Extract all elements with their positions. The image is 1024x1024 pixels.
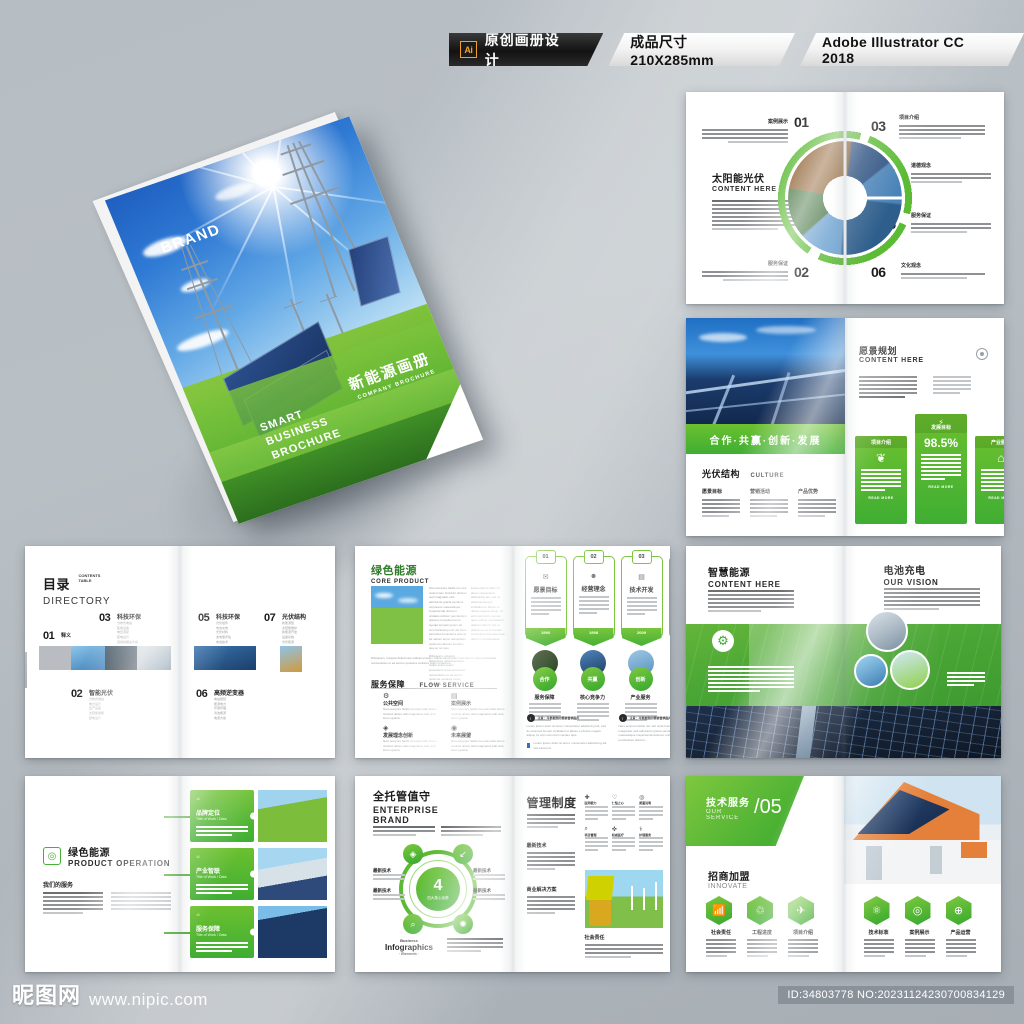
directory-number-06: 06	[196, 688, 207, 700]
directory-heading-03: 科技环保	[117, 612, 141, 621]
wheel-number: 4	[434, 878, 443, 894]
service-hex-label: 社会责任	[706, 929, 736, 936]
vision-card-value: 98.5%	[915, 433, 967, 454]
culture-heading: 光伏结构 CULTURE	[702, 464, 784, 482]
core-paragraph: Ribsquam, voluptat delecicuso oditsement…	[371, 656, 505, 665]
flow-item-label: 案例展示	[451, 700, 505, 707]
rocket-icon: ✈	[788, 896, 814, 925]
solar-field-photo	[686, 318, 845, 424]
donut-chart	[770, 123, 920, 273]
service-hex-label: 工程进度	[747, 929, 777, 936]
service-tag-banner: 技术服务 OUR SERVICE /05	[686, 776, 804, 846]
spread-core-product: 绿色能源 CORE PRODUCT Nam tempore facilis re…	[355, 546, 670, 758]
vision-heading: 愿景规划 CONTENT HERE	[859, 344, 924, 364]
spread-product-operation: ◎ 绿色能源 PRODUCT OPERATION 我们的服务 ❝ 品牌定位 Ti…	[25, 776, 335, 972]
operation-card-title: 品牌定位	[196, 808, 248, 817]
document-icon: ▤	[622, 573, 662, 581]
management-lines-1	[527, 814, 575, 830]
core-circle-caption: 核心竞争力	[575, 694, 611, 701]
wheel-caption: 四大核心优势	[427, 896, 449, 901]
timeline-card-01: 01 ✉ 愿景目标 1990	[525, 556, 567, 638]
timeline-label: 战略发展	[670, 585, 671, 594]
bulb-icon: ◈	[403, 844, 423, 864]
search-icon: ⌕	[403, 914, 423, 934]
gear-icon: ⚙	[712, 630, 734, 652]
flow-item: ◉ 未来展望 Nam tempore facilis rem aut unde …	[451, 724, 505, 753]
info-icon: !	[527, 714, 535, 722]
culture-col: 营销活动	[750, 488, 788, 519]
banner-segment-software: Adobe Illustrator CC 2018	[800, 33, 1024, 66]
culture-en: CULTURE	[750, 473, 784, 479]
page-left: 智慧能源 CONTENT HERE ⚙	[686, 546, 844, 758]
recycle-icon: ♲	[747, 896, 773, 925]
directory-title-cn: 目录	[43, 577, 70, 592]
operation-card-photo	[258, 790, 327, 842]
smart-text-left	[708, 590, 794, 614]
gear-icon: ✺	[453, 914, 473, 934]
operation-title-cn: 绿色能源	[68, 844, 170, 859]
timeline-card-02: 02 ☻ 经营理念 1998	[573, 556, 615, 638]
timeline-year: 1990	[541, 630, 550, 646]
grid-item: ⚕护理服务	[639, 826, 662, 854]
mail-icon: ✉	[526, 573, 566, 581]
culture-col-label: 愿景目标	[702, 488, 740, 495]
page-right: 01 ✉ 愿景目标 1990 02 ☻ 经营理念 1998 03 ▤ 技术开发 …	[513, 546, 671, 758]
spread-enterprise-brand: 全托管值守 ENTERPRISE BRAND 4 四大核心优势 ◈ ↙ ⌕ ✺ …	[355, 776, 670, 972]
directory-number-01: 01	[43, 630, 54, 642]
donut-label-05: 服务保证	[911, 212, 991, 219]
wheel-label-4: 最新技术	[473, 888, 505, 902]
directory-heading-07: 光伏结构	[282, 612, 306, 621]
core-text-col-2: Lorem ipsum dolor sit amet, consectetur …	[471, 586, 505, 642]
directory-entry-07: 光伏结构 新能源型 太阳能维护 新能源开发 设备系统 光伏能源	[282, 612, 306, 644]
slogan-text: 合作·共赢·创新·发展	[710, 432, 822, 447]
directory-side-tab	[25, 652, 27, 688]
management-sub-1: 最新技术	[527, 842, 547, 849]
vision-card-2: 发展目标 ⚡ 98.5% READ MORE	[915, 414, 967, 524]
timeline-label: 技术开发	[622, 585, 662, 594]
spread-smart-energy: 智慧能源 CONTENT HERE ⚙ 电池充电 OUR VISION	[686, 546, 1001, 758]
timeline-year: 2009	[637, 630, 646, 646]
timeline-card-03: 03 ▤ 技术开发 2009	[621, 556, 663, 638]
cover-mockup: BRAND SMART BUSINESS BROCHURE 新能源画册 COMP…	[110, 120, 530, 540]
operation-card-sub: Title of Work / Data	[196, 933, 248, 937]
operation-heading: ◎ 绿色能源 PRODUCT OPERATION	[43, 844, 170, 868]
vision-en: CONTENT HERE	[859, 357, 924, 364]
page-right: ⚛ 技术标准 ◎ 案例展示 ⊕ 产品运营	[844, 776, 1002, 972]
info-icon: !	[619, 714, 627, 722]
operation-card-title: 产业智联	[196, 866, 248, 875]
vision-text-right	[884, 588, 980, 612]
management-sub-2: 商业解决方案	[527, 886, 557, 893]
page-left: 绿色能源 CORE PRODUCT Nam tempore facilis re…	[355, 546, 513, 758]
core-circle-word: 创新	[629, 667, 653, 691]
directory-number-07: 07	[264, 612, 275, 624]
core-circle-3: 创新 产业服务	[623, 650, 659, 723]
core-footnote-2: ! 注意：可根据您的需要替换图片 Nam tempore facilis rem…	[619, 714, 671, 743]
enterprise-heading: 全托管值守 ENTERPRISE BRAND	[373, 788, 439, 825]
page-left: 合作·共赢·创新·发展 光伏结构 CULTURE 愿景目标 营销活动 产品优势	[686, 318, 845, 536]
directory-entry-06: 高频逆变器 电站规划 能源电力 环保管理 清洁能源 电源方案	[214, 688, 244, 720]
management-sub-3: 社会责任	[585, 934, 605, 941]
service-hex-item[interactable]: ⊕ 产品运营	[946, 896, 976, 959]
smart-cn: 智慧能源	[708, 564, 781, 579]
service-hex-label: 案例展示	[905, 929, 935, 936]
directory-heading-05: 科技环保	[216, 612, 240, 621]
worker-helmet-photo	[585, 870, 663, 928]
core-heading: 绿色能源 CORE PRODUCT	[371, 562, 429, 585]
service-tag-cn: 技术服务	[706, 794, 750, 809]
target-icon	[976, 348, 988, 360]
timeline-label: 经营理念	[574, 584, 614, 593]
chart-icon: ◉	[451, 724, 505, 732]
core-circle-1: 合作 服务保障	[527, 650, 563, 723]
donut-item-04: 道德观念	[911, 162, 991, 185]
core-title-en: CORE PRODUCT	[371, 579, 429, 585]
directory-sub: 电池技术	[216, 640, 240, 645]
page-left: 全托管值守 ENTERPRISE BRAND 4 四大核心优势 ◈ ↙ ⌕ ✺ …	[355, 776, 513, 972]
vision-cn: 愿景规划	[859, 344, 924, 357]
spread-donut-contents: 案例展示 01 太阳能光伏 CONTENT HERE 服务保证 02 03 项目…	[686, 92, 1004, 304]
management-icon-grid: ✚医师能力 ♡仁恒之心 ◎质量说明 ⌕项目管理 ✜权威医疗 ⚕护理服务	[585, 794, 663, 853]
core-circle-caption: 产业服务	[623, 694, 659, 701]
operation-card-1: ❝ 品牌定位 Title of Work / Data	[190, 790, 327, 842]
smart-heading: 智慧能源 CONTENT HERE	[708, 564, 781, 589]
service-hex-label: 项目介绍	[788, 929, 818, 936]
search-icon: ⌕	[585, 826, 608, 833]
timeline-card-04: 04 ✺ 战略发展 2019	[669, 556, 671, 638]
culture-col: 产品优势	[798, 488, 836, 519]
operation-card-3: ❝ 服务保障 Title of Work / Data	[190, 906, 327, 958]
person-icon: ☻	[574, 573, 614, 580]
directory-number-05: 05	[198, 612, 209, 624]
vision-text-col-1	[859, 376, 917, 400]
banner-label-software: Adobe Illustrator CC 2018	[822, 34, 998, 66]
enterprise-en2: BRAND	[373, 815, 439, 825]
timeline-year: 1998	[589, 630, 598, 646]
wheel-label-3: 最新技术	[473, 868, 505, 882]
grid-item: ✜权威医疗	[612, 826, 635, 854]
innovate-heading: 招商加盟 INNOVATE	[708, 868, 750, 890]
directory-sub: 光伏能源	[282, 640, 306, 645]
directory-sub: 配电设计	[89, 716, 113, 721]
directory-entry-03: 科技环保 分布式电站 集成设备 电压调配 配电设计 自动化解决方案	[117, 612, 141, 644]
plug-icon: ⚡	[915, 418, 967, 427]
grid-item: ♡仁恒之心	[612, 794, 635, 822]
page-right: 愿景规划 CONTENT HERE 项目介绍 ❦ READ MORE 发展目标 …	[845, 318, 1004, 536]
operation-card-photo	[258, 848, 327, 900]
electric-car-photo-icon	[890, 650, 930, 690]
donut-label-04: 道德观念	[911, 162, 991, 169]
culture-columns: 愿景目标 营销活动 产品优势	[702, 488, 836, 519]
management-lines-4	[585, 944, 663, 960]
stethoscope-icon: ✜	[612, 826, 635, 833]
service-hex-item[interactable]: ⚛ 技术标准	[864, 896, 894, 959]
management-lines-3	[527, 896, 575, 916]
settings-icon: ✺	[670, 573, 671, 581]
banner-label-original-design: 原创画册设计	[485, 30, 574, 70]
service-hex-item[interactable]: 📶 社会责任	[706, 896, 736, 959]
wheel-label-1: 最新技术	[373, 868, 405, 882]
vision-card-1: 项目介绍 ❦ READ MORE	[855, 436, 907, 524]
page-right: ❝ 品牌定位 Title of Work / Data ❝ 产业智联 Title…	[180, 776, 335, 972]
core-circle-2: 共赢 核心竞争力	[575, 650, 611, 723]
flow-heading: 服务保障 FLOW SERVICE	[371, 674, 475, 692]
culture-col: 愿景目标	[702, 488, 740, 519]
wind-turbine-photo-icon	[854, 654, 888, 688]
quote-icon: ❝	[196, 854, 248, 863]
gear-icon: ⚙	[383, 692, 437, 700]
layers-icon: ▤	[451, 692, 505, 700]
core-photo	[371, 586, 423, 644]
four-advantages-wheel: 4 四大核心优势 ◈ ↙ ⌕ ✺	[399, 850, 477, 928]
location-pin-icon: ◎	[43, 847, 61, 865]
operation-title-en: PRODUCT OPERATION	[68, 859, 170, 868]
page-left: 技术服务 OUR SERVICE /05 招商加盟 INNOVATE 📶 社会责…	[686, 776, 844, 972]
directory-title-en: DIRECTORY	[43, 596, 111, 607]
watermark: 昵图网 www.nipic.com	[12, 978, 208, 1010]
core-circle-word: 合作	[533, 667, 557, 691]
flow-item: ⚙ 公共空间 Nam tempore facilis rem aut unde …	[383, 692, 437, 721]
quote-icon: ❝	[196, 912, 248, 921]
page-right: 管理制度 最新技术 商业解决方案 ✚医师能力 ♡仁恒之心 ◎质量说明 ⌕项目管理…	[513, 776, 671, 972]
management-title: 管理制度	[527, 794, 577, 811]
page-right: 05 科技环保 光伏组件 电池充电 光伏材料 发电量评估 电池技术 07 光伏结…	[180, 546, 335, 758]
directory-heading-01: 释义	[61, 632, 71, 639]
spread-vision-plan: 合作·共赢·创新·发展 光伏结构 CULTURE 愿景目标 营销活动 产品优势 …	[686, 318, 1004, 536]
directory-heading-06: 高频逆变器	[214, 688, 244, 697]
core-circle-caption: 服务保障	[527, 694, 563, 701]
directory-sub: 自动化解决方案	[117, 640, 141, 645]
flow-item: ◈ 发展理念创新 Nam tempore facilis rem aut und…	[383, 724, 437, 753]
directory-photo	[280, 646, 302, 672]
service-hexes-left: 📶 社会责任 ♲ 工程进度 ✈ 项目介绍	[706, 896, 818, 959]
quote-icon: ❝	[196, 796, 248, 805]
doctor-icon: ✚	[585, 794, 608, 801]
heart-icon: ♡	[612, 794, 635, 801]
core-circle-word: 共赢	[581, 667, 605, 691]
grid-item: ⌕项目管理	[585, 826, 608, 854]
slogan-banner: 合作·共赢·创新·发展	[686, 424, 845, 454]
watermark-site-url: www.nipic.com	[89, 990, 208, 1010]
bulb-icon: ◈	[383, 724, 437, 732]
operation-card-title: 服务保障	[196, 924, 248, 933]
grid-item: ◎质量说明	[639, 794, 662, 822]
flow-item-label: 公共空间	[383, 700, 437, 707]
atom-icon: ⚛	[864, 896, 890, 925]
service-hex-label: 产品运营	[946, 929, 976, 936]
enterprise-en1: ENTERPRISE	[373, 805, 439, 815]
banner-segment-size: 成品尺寸210X285mm	[608, 33, 795, 66]
directory-number-02: 02	[71, 688, 82, 700]
flow-item-label: 未来展望	[451, 732, 505, 739]
directory-entry-05: 科技环保 光伏组件 电池充电 光伏材料 发电量评估 电池技术	[216, 612, 240, 644]
enterprise-text-2	[441, 826, 501, 838]
directory-entry-02: 智能光伏 分布式电站 电力设计 生产设备 太阳能储能 配电设计	[89, 688, 113, 720]
vision-card-readmore[interactable]: READ MORE	[975, 493, 1004, 505]
innovate-cn: 招商加盟	[708, 868, 750, 883]
service-tag-number: /05	[754, 796, 782, 819]
directory-title: 目录 CONTENTS TABLE DIRECTORY	[43, 574, 111, 607]
donut-item-05: 服务保证	[911, 212, 991, 235]
vision-text-white	[947, 672, 985, 688]
flow-item: ▤ 案例展示 Nam tempore facilis rem aut unde …	[451, 692, 505, 721]
timeline-number: 01	[536, 550, 556, 564]
culture-cn: 光伏结构	[702, 469, 740, 479]
timeline-number: 02	[584, 550, 604, 564]
directory-photo	[137, 646, 171, 670]
culture-col-label: 产品优势	[798, 488, 836, 495]
vision-heading: 电池充电 OUR VISION	[884, 562, 939, 587]
core-text-col-1: Nam tempore facilis rem aut unde lorem t…	[429, 586, 467, 686]
spread-directory: 目录 CONTENTS TABLE DIRECTORY 01 释义 03 科技环…	[25, 546, 335, 758]
enterprise-cn: 全托管值守	[373, 788, 439, 804]
download-icon: ↙	[453, 844, 473, 864]
vision-card-3: 产业服务 ⌂ READ MORE	[975, 436, 1004, 524]
flow-item-label: 发展理念创新	[383, 732, 437, 739]
grid-item: ✚医师能力	[585, 794, 608, 822]
vision-card-head: 产业服务	[975, 436, 1004, 448]
directory-sub: 电源方案	[214, 716, 244, 721]
wheel-label-2: 最新技术	[373, 888, 405, 902]
page-left: ◎ 绿色能源 PRODUCT OPERATION 我们的服务	[25, 776, 180, 972]
enterprise-text-1	[373, 826, 435, 838]
top-banner: Ai 原创画册设计 成品尺寸210X285mm Adobe Illustrato…	[449, 33, 1024, 66]
directory-title-small2: TABLE	[78, 578, 91, 583]
vision-card-head: 项目介绍	[855, 436, 907, 448]
leaf-icon: ❦	[855, 448, 907, 469]
operation-sub-cn: 我们的服务	[43, 880, 73, 889]
directory-photo	[71, 646, 105, 670]
core-footnote-1: ! 注意：可根据您的需要替换图片 Lorem ipsum dolor sit a…	[527, 714, 607, 750]
directory-photo	[194, 646, 256, 670]
directory-heading-02: 智能光伏	[89, 688, 113, 697]
globe-icon: ⊕	[946, 896, 972, 925]
directory-photo	[105, 646, 137, 670]
page-left: 目录 CONTENTS TABLE DIRECTORY 01 释义 03 科技环…	[25, 546, 180, 758]
donut-divider-horizontal	[845, 197, 903, 200]
service-tag-en2: SERVICE	[706, 815, 750, 821]
operation-text-col-1	[43, 892, 103, 916]
location-pin-icon: ◎	[905, 896, 931, 925]
service-hex-item[interactable]: ◎ 案例展示	[905, 896, 935, 959]
page-right: 电池充电 OUR VISION	[844, 546, 1002, 758]
nurse-icon: ⚕	[639, 826, 662, 833]
operation-card-2: ❝ 产业智联 Title of Work / Data	[190, 848, 327, 900]
smart-en: CONTENT HERE	[708, 580, 781, 589]
operation-text-col-2	[111, 892, 171, 912]
banner-segment-original-design: Ai 原创画册设计	[449, 33, 603, 66]
donut-label-03: 项目介绍	[899, 114, 985, 121]
management-lines-2	[527, 852, 575, 872]
operation-card-photo	[258, 906, 327, 958]
banner-label-size: 成品尺寸210X285mm	[630, 32, 769, 68]
infographics-logo: Business Infographics · Elements ·	[379, 938, 439, 956]
infographics-lines	[447, 938, 503, 954]
timeline-number: 03	[632, 550, 652, 564]
house-solar-photo	[844, 776, 1002, 884]
vision-card-readmore[interactable]: READ MORE	[855, 493, 907, 505]
service-hexes-right: ⚛ 技术标准 ◎ 案例展示 ⊕ 产品运营	[864, 896, 976, 959]
smart-text-left-white	[708, 666, 794, 694]
operation-card-sub: Title of Work / Data	[196, 817, 248, 821]
handshake-photo-icon	[866, 610, 908, 652]
innovate-en: INNOVATE	[708, 883, 750, 890]
shield-icon: ◎	[639, 794, 662, 801]
core-title-cn: 绿色能源	[371, 562, 429, 578]
image-id-badge: ID:34803778 NO:20231124230700834129	[778, 986, 1014, 1004]
vision-card-readmore[interactable]: READ MORE	[915, 482, 967, 494]
operation-card-sub: Title of Work / Data	[196, 875, 248, 879]
directory-number-03: 03	[99, 612, 110, 624]
vision-cn: 电池充电	[884, 562, 939, 577]
culture-col-label: 营销活动	[750, 488, 788, 495]
factory-icon: ⌂	[975, 448, 1004, 469]
illustrator-icon: Ai	[460, 41, 477, 58]
vision-text-col-2	[933, 376, 971, 396]
timeline-label: 愿景目标	[526, 585, 566, 594]
watermark-site-cn: 昵图网	[12, 978, 81, 1010]
bar-chart-icon: 📶	[706, 896, 732, 925]
service-hex-label: 技术标准	[864, 929, 894, 936]
spread-tech-service: 技术服务 OUR SERVICE /05 招商加盟 INNOVATE 📶 社会责…	[686, 776, 1001, 972]
vision-en: OUR VISION	[884, 578, 939, 587]
service-hex-item[interactable]: ♲ 工程进度	[747, 896, 777, 959]
service-hex-item[interactable]: ✈ 项目介绍	[788, 896, 818, 959]
directory-photo	[39, 646, 71, 670]
